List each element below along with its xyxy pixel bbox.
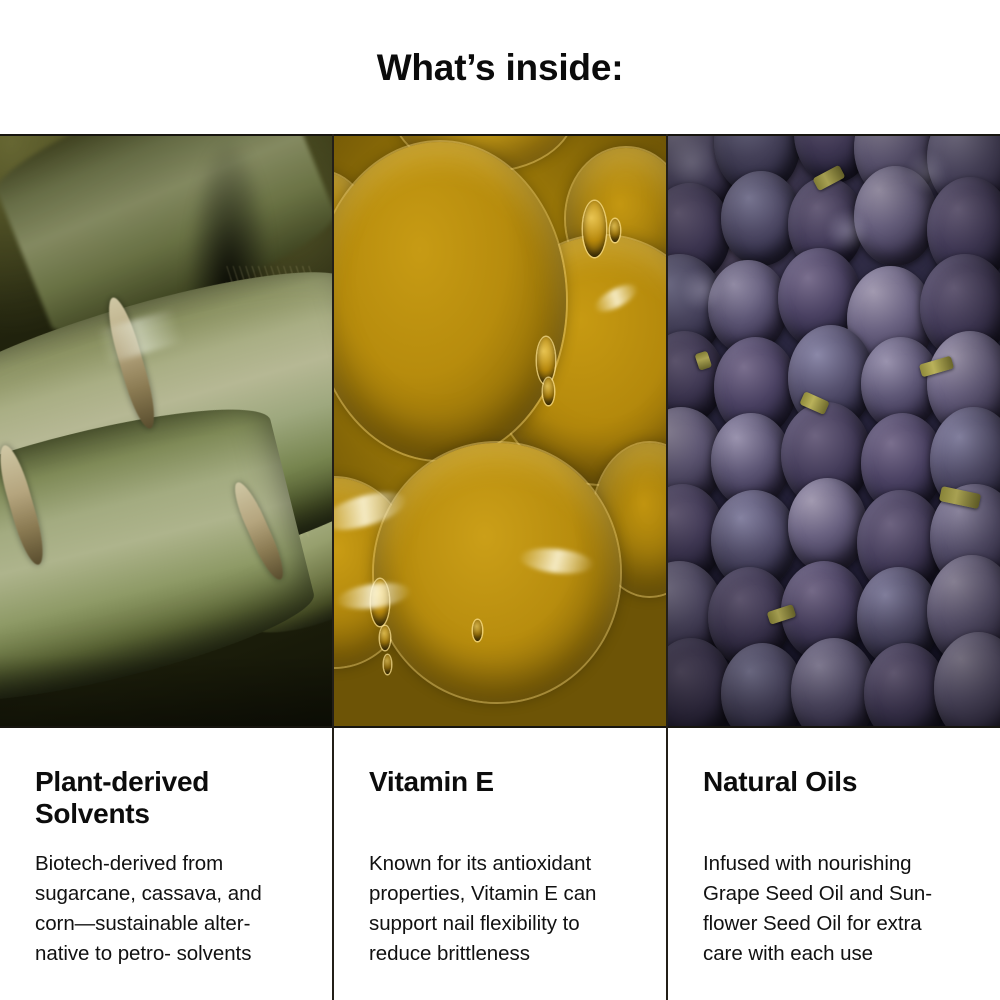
ingredient-columns: Plant-derived Solvents Biotech-derived f…	[0, 134, 1000, 1000]
ingredient-card-natural-oils: Natural Oils Infused with nourishing Gra…	[666, 134, 1000, 1000]
oil-photo-canvas	[334, 136, 666, 726]
oil-bubble-3	[583, 201, 606, 257]
ingredient-card-vitamin-e: Vitamin E Known for its antioxidant prop…	[332, 134, 666, 1000]
card-body: Biotech-derived from sugarcane, cassava,…	[35, 849, 298, 969]
card-title: Plant-derived Solvents	[35, 766, 298, 831]
page-title: What’s inside:	[377, 49, 624, 86]
text-block: Vitamin E Known for its antioxidant prop…	[334, 728, 666, 1000]
grapes-vignette	[668, 136, 1000, 726]
oil-bubble-8	[473, 620, 482, 641]
ingredient-card-plant-derived-solvents: Plant-derived Solvents Biotech-derived f…	[0, 134, 332, 1000]
card-title: Vitamin E	[369, 766, 632, 831]
text-block: Natural Oils Infused with nourishing Gra…	[668, 728, 1000, 1000]
card-body: Known for its antioxidant properties, Vi…	[369, 849, 632, 969]
header-bar: What’s inside:	[0, 0, 1000, 134]
card-body: Infused with nourishing Grape Seed Oil a…	[703, 849, 966, 969]
oil-bubble-1	[537, 337, 555, 384]
sugarcane-photo-canvas	[0, 136, 332, 726]
sugarcane-bottom-shadow	[0, 655, 332, 726]
oil-bubble-4	[610, 219, 620, 243]
oil-droplet-large-bottom	[374, 443, 620, 703]
card-title: Natural Oils	[703, 766, 966, 831]
grapes-photo	[668, 134, 1000, 728]
oil-bubble-7	[384, 655, 391, 674]
oil-bubbles-photo	[334, 134, 666, 728]
whats-inside-infographic: What’s inside:	[0, 0, 1000, 1000]
oil-bubble-2	[543, 378, 554, 405]
sugarcane-stalks-photo	[0, 134, 332, 728]
grapes-photo-canvas	[668, 136, 1000, 726]
text-block: Plant-derived Solvents Biotech-derived f…	[0, 728, 332, 1000]
